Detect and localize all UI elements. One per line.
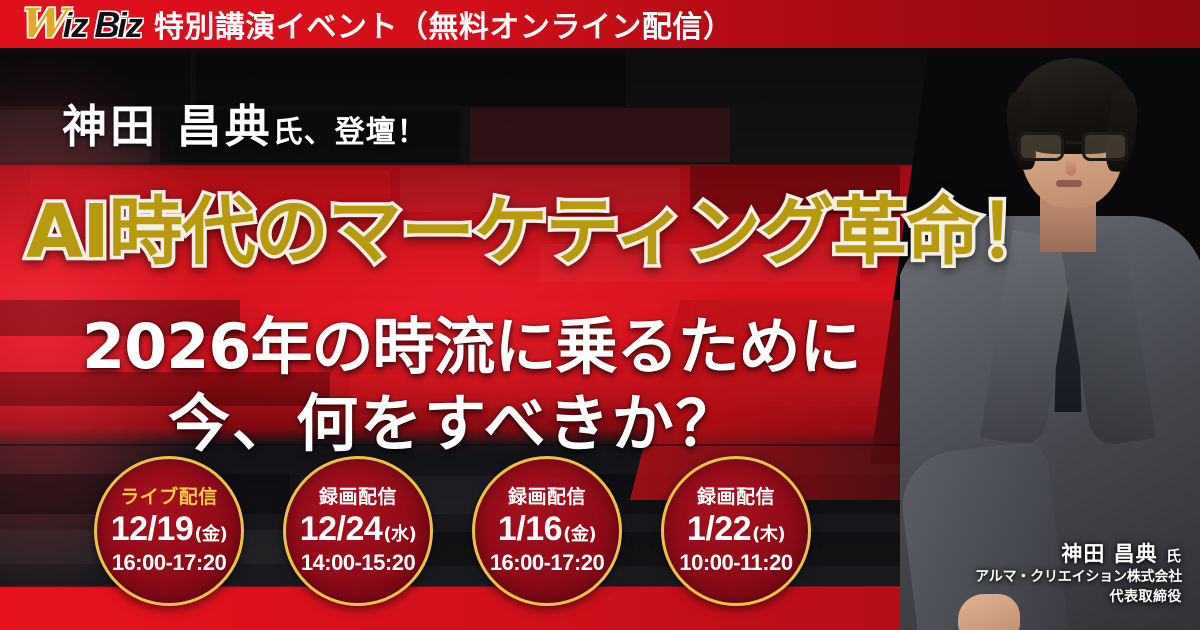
session-date-value: 12/19 bbox=[111, 512, 194, 546]
logo-letter-b: B bbox=[94, 7, 119, 43]
photo-glasses-lens-right bbox=[1082, 132, 1128, 161]
speaker-headline: 神田 昌典氏、登壇！ bbox=[62, 90, 428, 155]
subtitle-line-2: 今、何をすべきか？ bbox=[168, 373, 740, 463]
speaker-credit: 神田 昌典 氏 アルマ・クリエイション株式会社 代表取締役 bbox=[975, 541, 1182, 608]
session-date: 12/24(水) bbox=[300, 512, 417, 546]
session-day-of-week: (水) bbox=[383, 526, 416, 544]
credit-name: 神田 昌典 bbox=[1061, 542, 1157, 566]
session-date-value: 1/16 bbox=[498, 512, 562, 546]
logo-letters-iz2: iz bbox=[117, 9, 141, 43]
session-date-value: 12/24 bbox=[300, 512, 383, 546]
session-circle[interactable]: 録画配信 1/22(木) 10:00-11:20 bbox=[661, 456, 811, 606]
photo-glasses bbox=[1016, 132, 1130, 162]
session-day-of-week: (金) bbox=[563, 526, 596, 544]
speaker-photo bbox=[900, 28, 1200, 630]
session-kind: 録画配信 bbox=[319, 488, 397, 507]
session-circle[interactable]: ライブ配信 12/19(金) 16:00-17:20 bbox=[94, 456, 244, 606]
session-kind: 録画配信 bbox=[697, 488, 775, 507]
session-day-of-week: (金) bbox=[194, 526, 227, 544]
wizbiz-logo[interactable]: W iz B iz bbox=[22, 4, 142, 44]
session-time: 16:00-17:20 bbox=[490, 552, 604, 574]
session-day-of-week: (木) bbox=[752, 526, 785, 544]
session-time: 14:00-15:20 bbox=[301, 552, 415, 574]
session-date: 1/22(木) bbox=[687, 512, 785, 546]
header-bar: W iz B iz 特別講演イベント（無料オンライン配信） bbox=[0, 0, 1200, 48]
credit-organization: アルマ・クリエイション株式会社 bbox=[975, 567, 1182, 588]
header-title: 特別講演イベント（無料オンライン配信） bbox=[154, 2, 734, 46]
photo-mouth bbox=[1056, 180, 1082, 187]
logo-letter-w: W bbox=[20, 4, 68, 44]
event-promo-banner: W iz B iz 特別講演イベント（無料オンライン配信） 神田 昌典氏、登壇！… bbox=[0, 0, 1200, 630]
session-date: 1/16(金) bbox=[498, 512, 596, 546]
session-kind: ライブ配信 bbox=[120, 488, 218, 507]
session-kind: 録画配信 bbox=[508, 488, 586, 507]
credit-name-line: 神田 昌典 氏 bbox=[975, 541, 1182, 567]
speaker-headline-name: 神田 昌典 bbox=[62, 100, 273, 153]
session-time: 10:00-11:20 bbox=[679, 552, 792, 574]
speaker-headline-suffix: 氏、登壇！ bbox=[273, 115, 428, 150]
credit-role: 代表取締役 bbox=[975, 588, 1182, 608]
session-date: 12/19(金) bbox=[111, 512, 228, 546]
session-circles: ライブ配信 12/19(金) 16:00-17:20 録画配信 12/24(水)… bbox=[0, 456, 900, 616]
photo-glasses-lens-left bbox=[1018, 132, 1064, 161]
session-date-value: 1/22 bbox=[687, 512, 751, 546]
photo-glasses-bridge bbox=[1066, 141, 1082, 144]
credit-honorific: 氏 bbox=[1166, 547, 1182, 565]
session-circle[interactable]: 録画配信 12/24(水) 14:00-15:20 bbox=[283, 456, 433, 606]
main-title: AI時代のマーケティング革命！ bbox=[26, 172, 1052, 279]
session-circle[interactable]: 録画配信 1/16(金) 16:00-17:20 bbox=[472, 456, 622, 606]
session-time: 16:00-17:20 bbox=[112, 552, 226, 574]
